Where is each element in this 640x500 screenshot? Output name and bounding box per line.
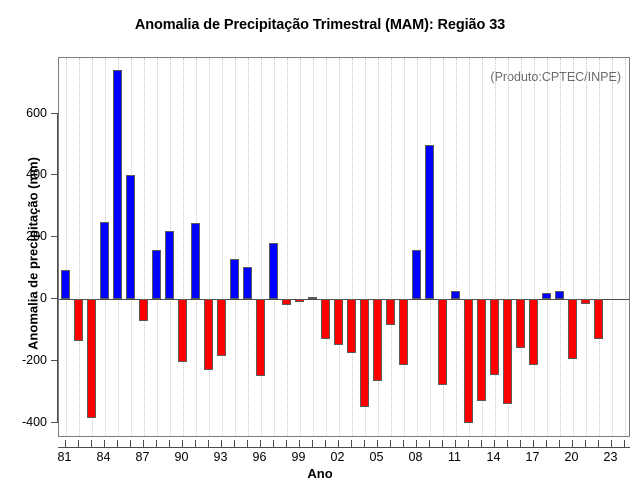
- x-axis-tick: [520, 440, 521, 447]
- grid-line: [391, 58, 392, 436]
- grid-line: [560, 58, 561, 436]
- bar: [477, 299, 485, 401]
- grid-line: [326, 58, 327, 436]
- y-axis-tick: [51, 360, 58, 361]
- y-axis-tick: [51, 298, 58, 299]
- x-axis-tick: [624, 440, 625, 447]
- bar: [438, 299, 446, 386]
- grid-line: [521, 58, 522, 436]
- grid-line: [352, 58, 353, 436]
- x-axis-tick: [104, 440, 105, 447]
- x-axis-tick: [299, 440, 300, 447]
- x-axis-tick: [208, 440, 209, 447]
- bar: [555, 291, 563, 299]
- bar: [230, 259, 238, 299]
- bar: [334, 299, 342, 345]
- attribution-text: (Produto:CPTEC/INPE): [490, 70, 621, 84]
- x-axis-tick: [533, 440, 534, 447]
- bar: [256, 299, 264, 376]
- bar: [178, 299, 186, 362]
- bar: [360, 299, 368, 407]
- chart-title: Anomalia de Precipitação Trimestral (MAM…: [0, 17, 640, 33]
- y-axis-tick-label: 200: [26, 229, 47, 243]
- x-axis-spine: [58, 447, 630, 448]
- x-axis-tick-label: 99: [292, 450, 306, 464]
- x-axis-tick: [169, 440, 170, 447]
- x-axis-tick: [195, 440, 196, 447]
- x-axis-tick: [286, 440, 287, 447]
- y-axis-tick-label: 0: [40, 291, 47, 305]
- bar: [425, 145, 433, 299]
- x-axis: 818487909396990205081114172023: [58, 437, 630, 477]
- bar: [594, 299, 602, 339]
- bar: [516, 299, 524, 348]
- x-axis-tick-label: 20: [565, 450, 579, 464]
- x-axis-tick-label: 14: [487, 450, 501, 464]
- x-axis-tick: [598, 440, 599, 447]
- x-axis-tick: [442, 440, 443, 447]
- x-axis-tick: [338, 440, 339, 447]
- x-axis-tick: [234, 440, 235, 447]
- bar: [282, 299, 290, 305]
- grid-line: [209, 58, 210, 436]
- bar: [165, 231, 173, 299]
- x-axis-tick-label: 05: [370, 450, 384, 464]
- grid-line: [417, 58, 418, 436]
- grid-line: [456, 58, 457, 436]
- bar: [399, 299, 407, 365]
- plot-area: (Produto:CPTEC/INPE): [58, 57, 630, 437]
- grid-line: [144, 58, 145, 436]
- bar: [204, 299, 212, 370]
- bar: [191, 223, 199, 299]
- x-axis-tick: [481, 440, 482, 447]
- x-axis-tick: [468, 440, 469, 447]
- grid-line: [586, 58, 587, 436]
- grid-line: [183, 58, 184, 436]
- y-axis: -400-2000200400600: [0, 0, 58, 500]
- bar: [568, 299, 576, 359]
- grid-line: [157, 58, 158, 436]
- bar: [269, 243, 277, 299]
- x-axis-tick: [182, 440, 183, 447]
- x-axis-tick: [494, 440, 495, 447]
- bar: [295, 299, 303, 302]
- grid-line: [300, 58, 301, 436]
- x-axis-tick: [546, 440, 547, 447]
- x-axis-tick: [559, 440, 560, 447]
- chart-figure: Anomalia de Precipitação Trimestral (MAM…: [0, 0, 640, 500]
- grid-line: [625, 58, 626, 436]
- grid-line: [287, 58, 288, 436]
- bar: [386, 299, 394, 325]
- bar: [321, 299, 329, 339]
- grid-line: [248, 58, 249, 436]
- x-axis-tick: [273, 440, 274, 447]
- x-axis-tick-label: 87: [136, 450, 150, 464]
- bar: [113, 70, 121, 299]
- bar: [373, 299, 381, 381]
- grid-line: [404, 58, 405, 436]
- x-axis-tick: [221, 440, 222, 447]
- x-axis-tick-label: 23: [604, 450, 618, 464]
- x-axis-tick: [351, 440, 352, 447]
- x-axis-tick: [585, 440, 586, 447]
- y-axis-tick-label: -400: [22, 415, 47, 429]
- x-axis-tick-label: 93: [214, 450, 228, 464]
- bar: [217, 299, 225, 356]
- x-axis-tick: [377, 440, 378, 447]
- bar: [152, 250, 160, 299]
- grid-line: [599, 58, 600, 436]
- x-axis-tick: [91, 440, 92, 447]
- grid-line: [235, 58, 236, 436]
- bar: [542, 293, 550, 299]
- x-axis-tick: [455, 440, 456, 447]
- grid-line: [547, 58, 548, 436]
- x-axis-tick-label: 96: [253, 450, 267, 464]
- y-axis-tick-label: 400: [26, 167, 47, 181]
- grid-line: [79, 58, 80, 436]
- x-axis-tick: [364, 440, 365, 447]
- y-axis-tick: [51, 113, 58, 114]
- x-axis-tick-label: 84: [97, 450, 111, 464]
- bar: [347, 299, 355, 353]
- y-axis-tick-label: 600: [26, 106, 47, 120]
- x-axis-tick-label: 11: [448, 450, 461, 464]
- grid-line: [612, 58, 613, 436]
- grid-line: [534, 58, 535, 436]
- x-axis-tick: [260, 440, 261, 447]
- x-axis-tick: [507, 440, 508, 447]
- grid-line: [313, 58, 314, 436]
- x-axis-tick: [143, 440, 144, 447]
- bar: [464, 299, 472, 423]
- bar: [412, 250, 420, 299]
- x-axis-tick: [403, 440, 404, 447]
- bar: [529, 299, 537, 365]
- grid-line: [573, 58, 574, 436]
- x-axis-tick: [390, 440, 391, 447]
- bar: [87, 299, 95, 418]
- bar: [308, 297, 316, 299]
- x-axis-tick: [611, 440, 612, 447]
- bar: [100, 222, 108, 299]
- x-axis-tick: [247, 440, 248, 447]
- x-axis-tick: [572, 440, 573, 447]
- bar: [503, 299, 511, 404]
- x-axis-tick: [429, 440, 430, 447]
- x-axis-tick: [117, 440, 118, 447]
- bar: [139, 299, 147, 321]
- x-axis-tick: [156, 440, 157, 447]
- x-axis-tick: [416, 440, 417, 447]
- grid-line: [339, 58, 340, 436]
- grid-line: [222, 58, 223, 436]
- x-axis-tick: [78, 440, 79, 447]
- bar: [490, 299, 498, 375]
- grid-line: [495, 58, 496, 436]
- bar: [243, 267, 251, 299]
- x-axis-tick-label: 90: [175, 450, 189, 464]
- x-axis-tick-label: 02: [331, 450, 345, 464]
- x-axis-tick: [325, 440, 326, 447]
- x-axis-tick-label: 17: [526, 450, 540, 464]
- bar: [451, 291, 459, 299]
- x-axis-tick: [65, 440, 66, 447]
- y-axis-tick: [51, 236, 58, 237]
- bar: [74, 299, 82, 341]
- grid-line: [261, 58, 262, 436]
- bar: [581, 299, 589, 304]
- x-axis-tick-label: 81: [58, 450, 72, 464]
- x-axis-tick: [312, 440, 313, 447]
- grid-line: [66, 58, 67, 436]
- x-axis-tick: [130, 440, 131, 447]
- x-axis-tick-label: 08: [409, 450, 423, 464]
- bar: [126, 175, 134, 299]
- y-axis-tick-label: -200: [22, 353, 47, 367]
- y-axis-tick: [51, 174, 58, 175]
- y-axis-tick: [51, 422, 58, 423]
- bar: [61, 270, 69, 299]
